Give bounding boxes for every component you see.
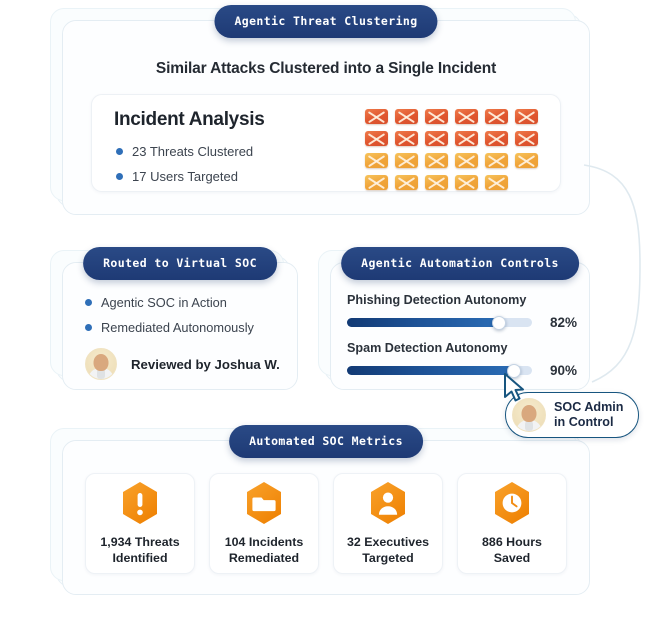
envelope-icon: [365, 109, 388, 124]
automation-inner: Phishing Detection Autonomy 82% Spam Det…: [331, 263, 589, 389]
soc-metrics-grid: 1,934 ThreatsIdentified104 IncidentsReme…: [85, 473, 567, 574]
cluster-heading: Similar Attacks Clustered into a Single …: [63, 60, 589, 78]
metric-label-line1: 32 Executives: [347, 535, 429, 549]
bullet-dot-icon: [116, 173, 123, 180]
envelope-icon: [455, 153, 478, 168]
envelope-icon: [485, 109, 508, 124]
alert-exclamation-icon: [120, 481, 160, 525]
spam-autonomy-slider[interactable]: [347, 366, 532, 375]
automation-controls-badge: Agentic Automation Controls: [341, 247, 579, 280]
soc-metrics-badge: Automated SOC Metrics: [229, 425, 423, 458]
incident-stat-threats: 23 Threats Clustered: [116, 144, 253, 159]
soc-metrics-card: 1,934 ThreatsIdentified104 IncidentsReme…: [62, 440, 590, 595]
routed-bullet-remediated-label: Remediated Autonomously: [101, 320, 254, 335]
metric-label-line2: Saved: [494, 551, 531, 565]
envelope-icon: [425, 131, 448, 146]
routed-virtual-soc-card: Agentic SOC in Action Remediated Autonom…: [62, 262, 298, 390]
metric-card: 886 HoursSaved: [457, 473, 567, 574]
bullet-dot-icon: [116, 148, 123, 155]
metric-label-line1: 104 Incidents: [225, 535, 304, 549]
metric-card: 104 IncidentsRemediated: [209, 473, 319, 574]
incident-analysis-title: Incident Analysis: [114, 109, 264, 131]
avatar: [85, 348, 117, 380]
phishing-autonomy-row: 82%: [347, 315, 577, 330]
routed-inner: Agentic SOC in Action Remediated Autonom…: [63, 263, 297, 389]
routed-virtual-soc-badge: Routed to Virtual SOC: [83, 247, 277, 280]
metric-label-line1: 886 Hours: [482, 535, 542, 549]
phishing-autonomy-value: 82%: [543, 315, 577, 330]
person-icon: [368, 481, 408, 525]
metric-label: 886 HoursSaved: [482, 535, 542, 567]
envelope-icon: [455, 175, 478, 190]
envelope-icon: [395, 153, 418, 168]
metric-label: 32 ExecutivesTargeted: [347, 535, 429, 567]
slider-thumb[interactable]: [507, 364, 521, 378]
slider-thumb[interactable]: [492, 316, 506, 330]
spam-autonomy-label: Spam Detection Autonomy: [347, 341, 507, 355]
routed-bullet-agentic-soc: Agentic SOC in Action: [85, 295, 227, 310]
envelope-icon: [455, 131, 478, 146]
bullet-dot-icon: [85, 299, 92, 306]
soc-admin-callout: SOC Admin in Control: [505, 392, 639, 438]
incident-stat-users-label: 17 Users Targeted: [132, 169, 238, 184]
soc-admin-text: SOC Admin in Control: [554, 400, 624, 430]
phishing-autonomy-slider[interactable]: [347, 318, 532, 327]
soc-admin-line2: in Control: [554, 415, 613, 429]
incident-stat-threats-label: 23 Threats Clustered: [132, 144, 253, 159]
metric-label-line2: Identified: [112, 551, 167, 565]
envelope-icon: [365, 153, 388, 168]
envelope-icon: [425, 175, 448, 190]
automation-controls-card: Phishing Detection Autonomy 82% Spam Det…: [330, 262, 590, 390]
incident-stat-users: 17 Users Targeted: [116, 169, 238, 184]
incident-analysis-box: Incident Analysis 23 Threats Clustered 1…: [91, 94, 561, 192]
envelope-icon: [515, 131, 538, 146]
metric-label-line1: 1,934 Threats: [100, 535, 179, 549]
slider-fill: [347, 366, 514, 375]
threat-clustering-badge: Agentic Threat Clustering: [214, 5, 437, 38]
envelope-icon: [425, 153, 448, 168]
envelope-icon: [515, 109, 538, 124]
envelope-icon: [515, 153, 538, 168]
threat-clustering-inner: Similar Attacks Clustered into a Single …: [63, 21, 589, 214]
clock-icon: [492, 481, 532, 525]
envelope-icon: [395, 131, 418, 146]
slider-fill: [347, 318, 499, 327]
envelope-icon: [455, 109, 478, 124]
metric-card: 1,934 ThreatsIdentified: [85, 473, 195, 574]
envelope-icon: [395, 109, 418, 124]
soc-admin-line1: SOC Admin: [554, 400, 624, 414]
threat-clustering-card: Similar Attacks Clustered into a Single …: [62, 20, 590, 215]
soc-metrics-inner: 1,934 ThreatsIdentified104 IncidentsReme…: [63, 441, 589, 594]
envelope-icon: [395, 175, 418, 190]
reviewer-row: Reviewed by Joshua W.: [85, 348, 280, 380]
metric-label-line2: Targeted: [362, 551, 413, 565]
spam-autonomy-value: 90%: [543, 363, 577, 378]
routed-bullet-agentic-soc-label: Agentic SOC in Action: [101, 295, 227, 310]
envelope-icon: [485, 131, 508, 146]
metric-label: 104 IncidentsRemediated: [225, 535, 304, 567]
envelope-icon: [485, 175, 508, 190]
envelope-icon: [485, 153, 508, 168]
metric-card: 32 ExecutivesTargeted: [333, 473, 443, 574]
folder-icon: [244, 481, 284, 525]
metric-label-line2: Remediated: [229, 551, 299, 565]
envelope-icon: [365, 131, 388, 146]
phishing-autonomy-label: Phishing Detection Autonomy: [347, 293, 526, 307]
metric-label: 1,934 ThreatsIdentified: [100, 535, 179, 567]
threat-envelope-grid: [365, 109, 538, 190]
envelope-icon: [365, 175, 388, 190]
envelope-icon: [425, 109, 448, 124]
bullet-dot-icon: [85, 324, 92, 331]
routed-bullet-remediated: Remediated Autonomously: [85, 320, 254, 335]
reviewer-name: Reviewed by Joshua W.: [131, 357, 280, 372]
spam-autonomy-row: 90%: [347, 363, 577, 378]
avatar: [512, 398, 546, 432]
diagram-stage: Similar Attacks Clustered into a Single …: [0, 0, 650, 629]
